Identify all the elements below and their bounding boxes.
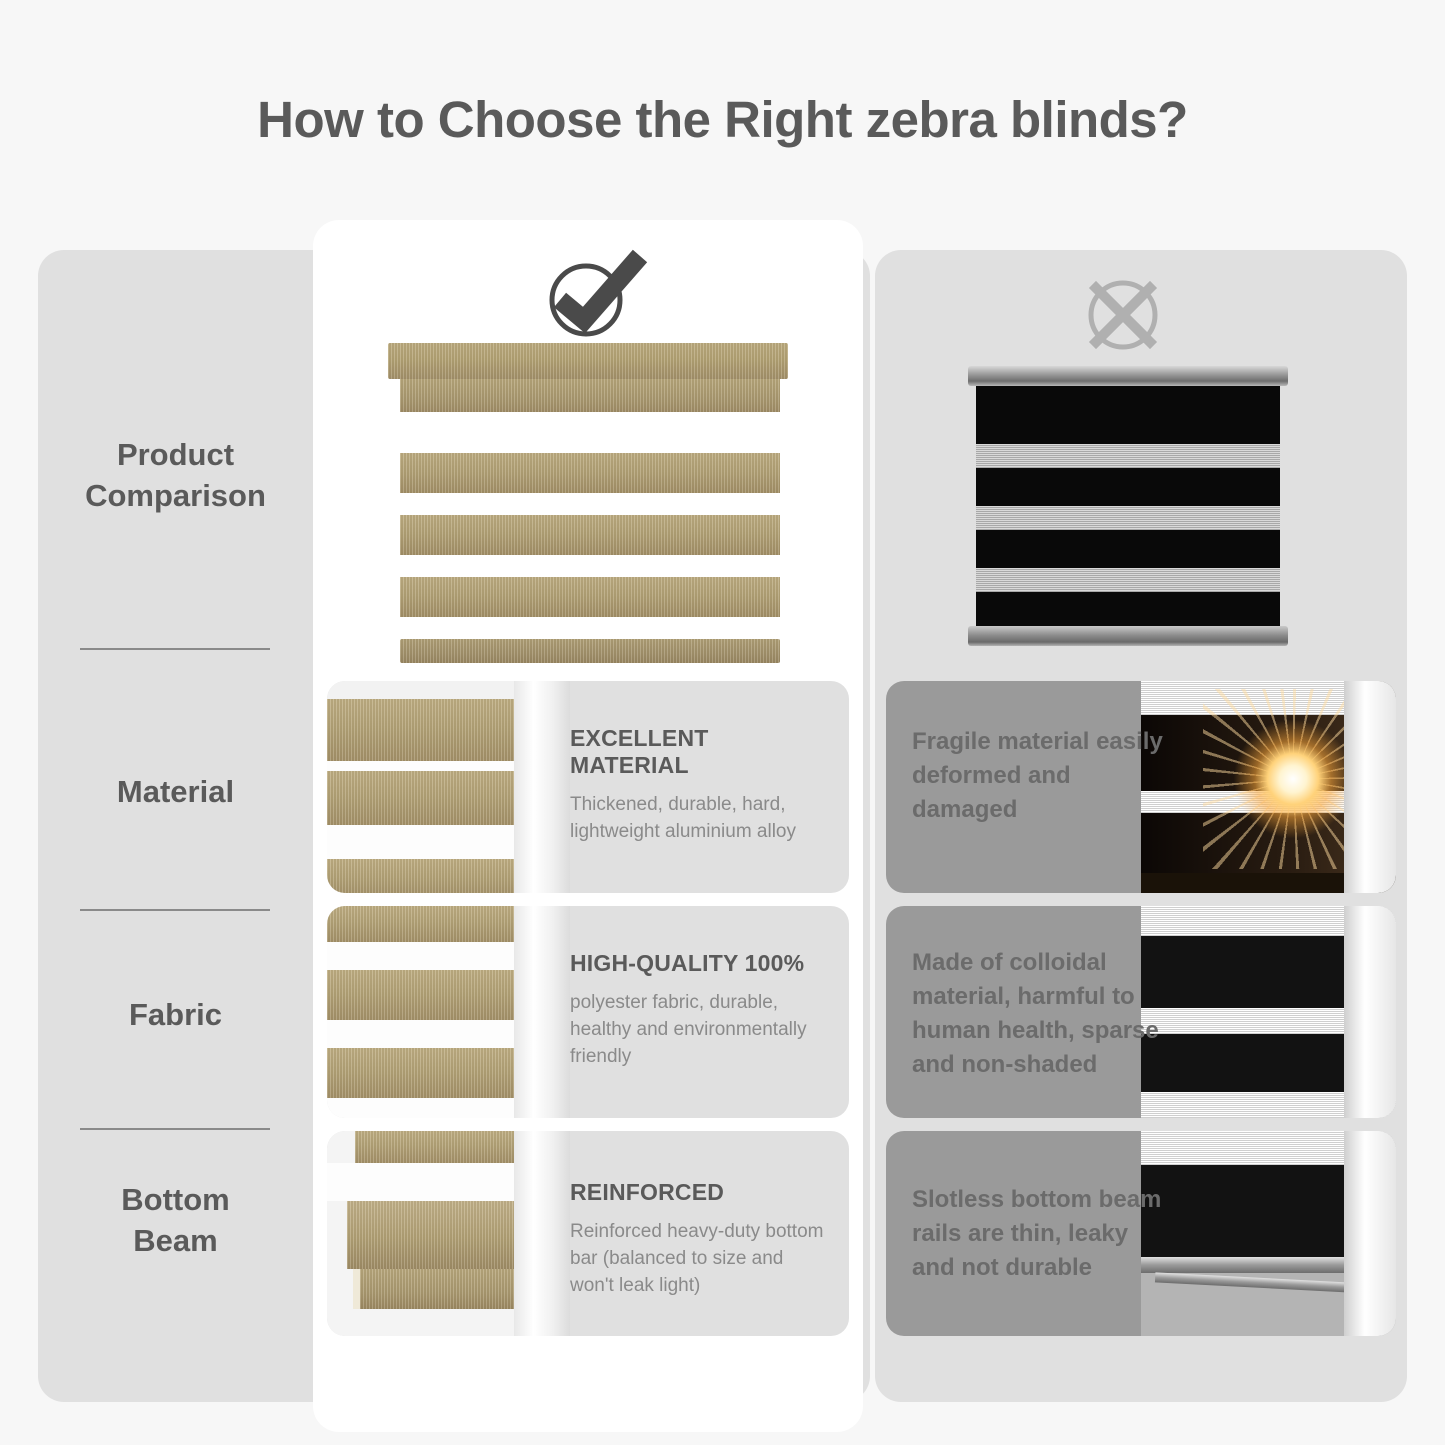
bottom-beam-bad-card: Slotless bottom beam rails are thin, lea… — [886, 1131, 1396, 1336]
material-good-body: Thickened, durable, hard, lightweight al… — [570, 792, 832, 846]
sun-glare — [1233, 719, 1353, 839]
row-label-fabric: Fabric — [38, 995, 313, 1036]
bottom-beam-good-body: Reinforced heavy-duty bottom bar (balanc… — [570, 1219, 832, 1300]
black-blind-bottom-bar — [968, 626, 1288, 646]
black-blind-sheer-band — [976, 568, 1280, 592]
row-divider-1 — [80, 648, 270, 650]
row-divider-2 — [80, 909, 270, 911]
bottom-beam-bad-text: Slotless bottom beam rails are thin, lea… — [912, 1183, 1167, 1285]
window-frame — [1344, 906, 1396, 1118]
material-good-heading: EXCELLENT MATERIAL — [570, 725, 832, 779]
fabric-good-heading: HIGH-QUALITY 100% — [570, 950, 832, 977]
fabric-good-text: HIGH-QUALITY 100% polyester fabric, dura… — [570, 950, 832, 1071]
window-frame — [1344, 1131, 1396, 1336]
bottom-beam-good-text: REINFORCED Reinforced heavy-duty bottom … — [570, 1179, 832, 1300]
cross-circle-icon — [1080, 272, 1166, 363]
blind-gap — [327, 1098, 527, 1118]
blind-slat — [327, 906, 527, 942]
thin-rail-photo — [1141, 1131, 1396, 1336]
black-blind-sheer-band — [976, 444, 1280, 468]
blind-slat — [347, 1201, 532, 1269]
window-frame — [514, 681, 570, 893]
sparse-fabric-photo — [1141, 906, 1396, 1118]
window-frame — [514, 1131, 570, 1336]
row-label-product-comparison: Product Comparison — [38, 435, 313, 517]
row-label-line2: Comparison — [38, 476, 313, 517]
black-blind-headrail — [968, 366, 1288, 386]
blind-slat — [355, 1131, 530, 1163]
tan-blind-slat — [400, 515, 780, 555]
blind-slat — [327, 1048, 527, 1098]
material-bad-body: Fragile material easily deformed and dam… — [912, 725, 1167, 827]
material-good-text: EXCELLENT MATERIAL Thickened, durable, h… — [570, 725, 832, 846]
window-frame — [514, 906, 570, 1118]
tan-blind-top-slat — [400, 379, 780, 412]
material-bad-text: Fragile material easily deformed and dam… — [912, 725, 1167, 827]
blind-gap — [327, 1163, 527, 1201]
fabric-closeup-photo — [327, 906, 570, 1118]
reinforced-bottom-bar — [353, 1269, 533, 1309]
blind-gap — [327, 1020, 527, 1048]
blind-gap — [327, 761, 527, 771]
tan-blind-slat — [400, 577, 780, 617]
page-title: How to Choose the Right zebra blinds? — [0, 90, 1445, 149]
bottom-beam-bad-body: Slotless bottom beam rails are thin, lea… — [912, 1183, 1167, 1285]
tan-blind-bottom-bar — [400, 639, 780, 663]
row-divider-3 — [80, 1128, 270, 1130]
row-label-line1: Product — [38, 435, 313, 476]
blind-slat — [327, 859, 527, 893]
fabric-good-card: HIGH-QUALITY 100% polyester fabric, dura… — [327, 906, 849, 1118]
window-frame — [1344, 681, 1396, 893]
blind-slat — [327, 771, 527, 825]
row-label-material: Material — [38, 772, 313, 813]
material-closeup-photo — [327, 681, 570, 893]
black-blind-fabric — [976, 386, 1280, 626]
fabric-bad-text: Made of colloidal material, harmful to h… — [912, 946, 1167, 1082]
tan-zebra-blind-image — [388, 343, 788, 663]
bottom-beam-closeup-photo — [327, 1131, 570, 1336]
bottom-beam-good-card: REINFORCED Reinforced heavy-duty bottom … — [327, 1131, 849, 1336]
blind-slat — [327, 699, 527, 761]
blind-gap — [327, 825, 527, 859]
fabric-bad-body: Made of colloidal material, harmful to h… — [912, 946, 1167, 1082]
black-blind-sheer-band — [976, 506, 1280, 530]
bottom-beam-good-heading: REINFORCED — [570, 1179, 832, 1206]
material-bad-card: Fragile material easily deformed and dam… — [886, 681, 1396, 893]
tan-blind-slat — [400, 453, 780, 493]
tan-blind-headrail — [388, 343, 788, 379]
material-good-card: EXCELLENT MATERIAL Thickened, durable, h… — [327, 681, 849, 893]
row-label-line1: Bottom — [38, 1180, 313, 1221]
black-zebra-blind-image — [968, 366, 1288, 646]
row-label-column: Product Comparison Material Fabric Botto… — [38, 250, 313, 1402]
row-label-line2: Beam — [38, 1221, 313, 1262]
fabric-bad-card: Made of colloidal material, harmful to h… — [886, 906, 1396, 1118]
check-circle-icon — [540, 248, 650, 345]
blind-gap — [327, 942, 527, 970]
row-label-bottom-beam: Bottom Beam — [38, 1180, 313, 1262]
light-leak-photo — [1141, 681, 1396, 893]
blind-slat — [327, 970, 527, 1020]
fabric-good-body: polyester fabric, durable, healthy and e… — [570, 990, 832, 1071]
